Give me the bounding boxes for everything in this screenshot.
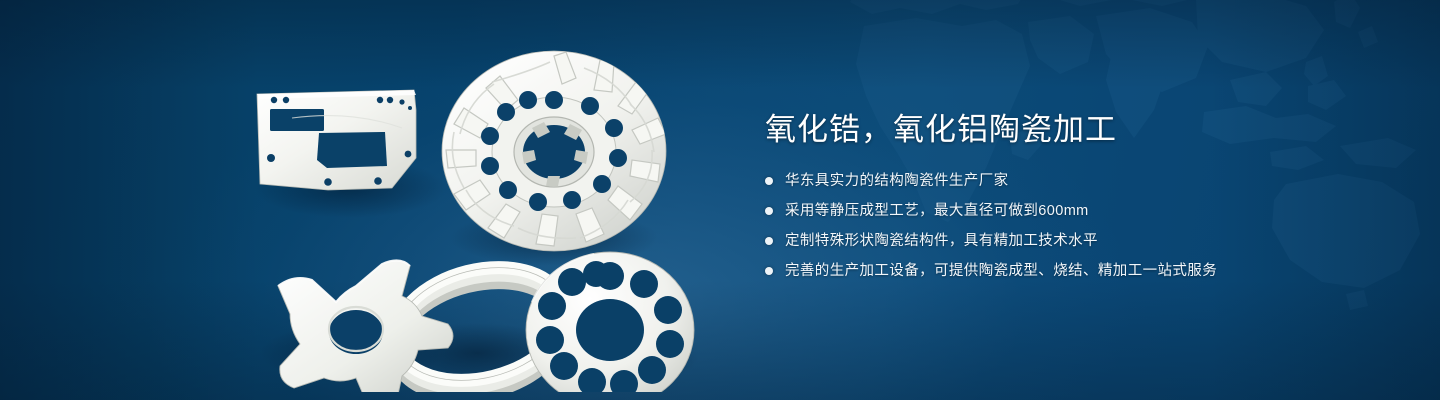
list-item-label: 华东具实力的结构陶瓷件生产厂家 xyxy=(785,170,1009,192)
ceramic-perforated-disc-part xyxy=(526,252,694,392)
list-item: 华东具实力的结构陶瓷件生产厂家 xyxy=(765,170,1385,192)
hero-copy: 氧化锆，氧化铝陶瓷加工 华东具实力的结构陶瓷件生产厂家 采用等静压成型工艺，最大… xyxy=(765,108,1385,282)
bullet-dot-icon xyxy=(765,237,773,245)
ceramic-plate-part xyxy=(257,90,416,190)
hero-banner: 氧化锆，氧化铝陶瓷加工 华东具实力的结构陶瓷件生产厂家 采用等静压成型工艺，最大… xyxy=(0,0,1440,400)
list-item-label: 采用等静压成型工艺，最大直径可做到600mm xyxy=(785,200,1089,222)
list-item: 完善的生产加工设备，可提供陶瓷成型、烧结、精加工一站式服务 xyxy=(765,260,1385,282)
ceramic-products-image xyxy=(232,48,714,392)
list-item-label: 定制特殊形状陶瓷结构件，具有精加工技术水平 xyxy=(785,230,1098,252)
list-item-label: 完善的生产加工设备，可提供陶瓷成型、烧结、精加工一站式服务 xyxy=(785,260,1217,282)
list-item: 定制特殊形状陶瓷结构件，具有精加工技术水平 xyxy=(765,230,1385,252)
feature-list: 华东具实力的结构陶瓷件生产厂家 采用等静压成型工艺，最大直径可做到600mm 定… xyxy=(765,170,1385,282)
ceramic-impeller-part xyxy=(442,51,666,251)
bullet-dot-icon xyxy=(765,177,773,185)
page-title: 氧化锆，氧化铝陶瓷加工 xyxy=(765,108,1385,152)
bullet-dot-icon xyxy=(765,267,773,275)
bullet-dot-icon xyxy=(765,207,773,215)
list-item: 采用等静压成型工艺，最大直径可做到600mm xyxy=(765,200,1385,222)
